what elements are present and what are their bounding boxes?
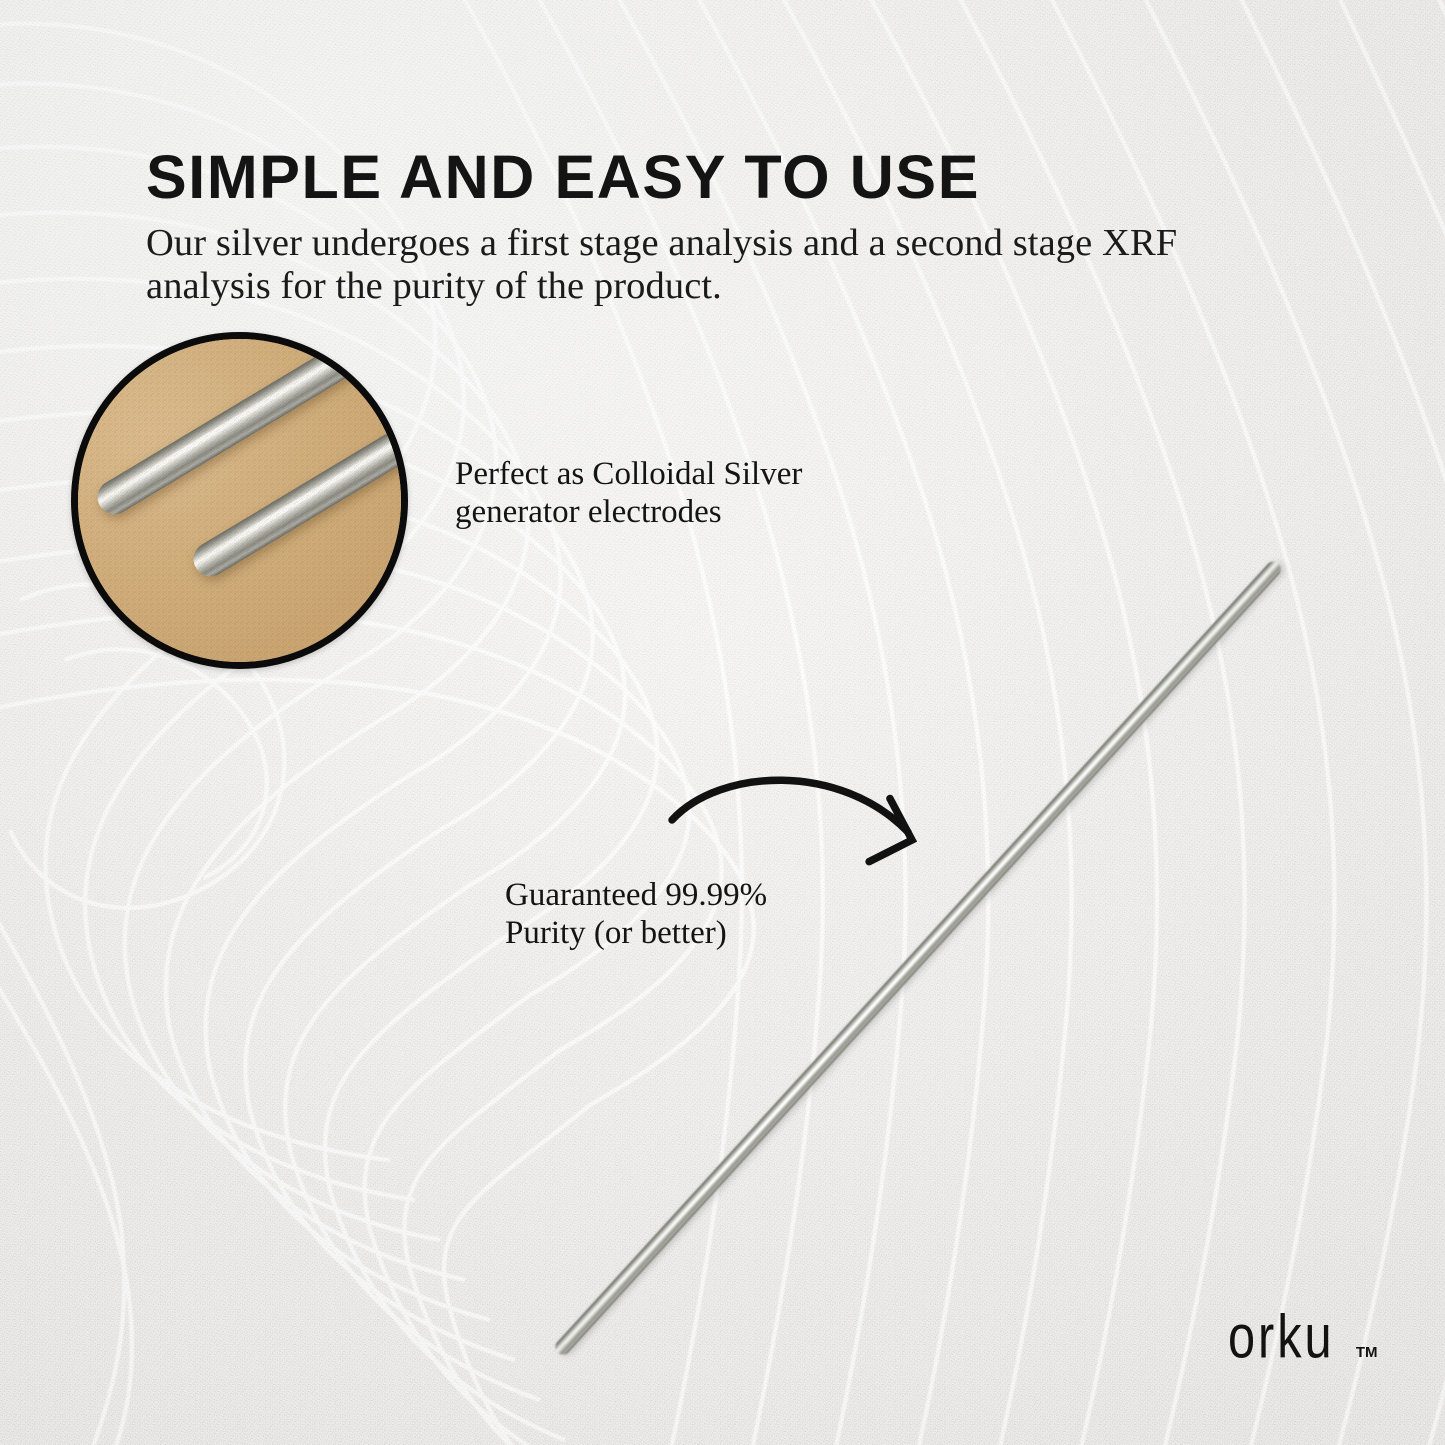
page-subtitle: Our silver undergoes a first stage analy… (146, 222, 1306, 308)
trademark-symbol: TM (1356, 1344, 1378, 1361)
page-title: SIMPLE AND EASY TO USE (146, 146, 980, 208)
brand-logo: orku TM (1228, 1312, 1378, 1365)
brand-name: orku (1228, 1309, 1335, 1366)
background-vignette (0, 0, 1445, 1445)
inset-caption-line-1: Perfect as Colloidal Silver (455, 455, 925, 493)
purity-annotation-line-2: Purity (or better) (505, 914, 975, 952)
product-infographic: SIMPLE AND EASY TO USE Our silver underg… (0, 0, 1445, 1445)
curved-arrow-icon (650, 760, 950, 870)
inset-caption: Perfect as Colloidal Silver generator el… (455, 455, 925, 531)
inset-photo-grain (71, 332, 408, 669)
purity-annotation-line-1: Guaranteed 99.99% (505, 876, 975, 914)
inset-caption-line-2: generator electrodes (455, 493, 925, 531)
purity-annotation: Guaranteed 99.99% Purity (or better) (505, 876, 975, 952)
circular-photo-inset (71, 332, 408, 669)
